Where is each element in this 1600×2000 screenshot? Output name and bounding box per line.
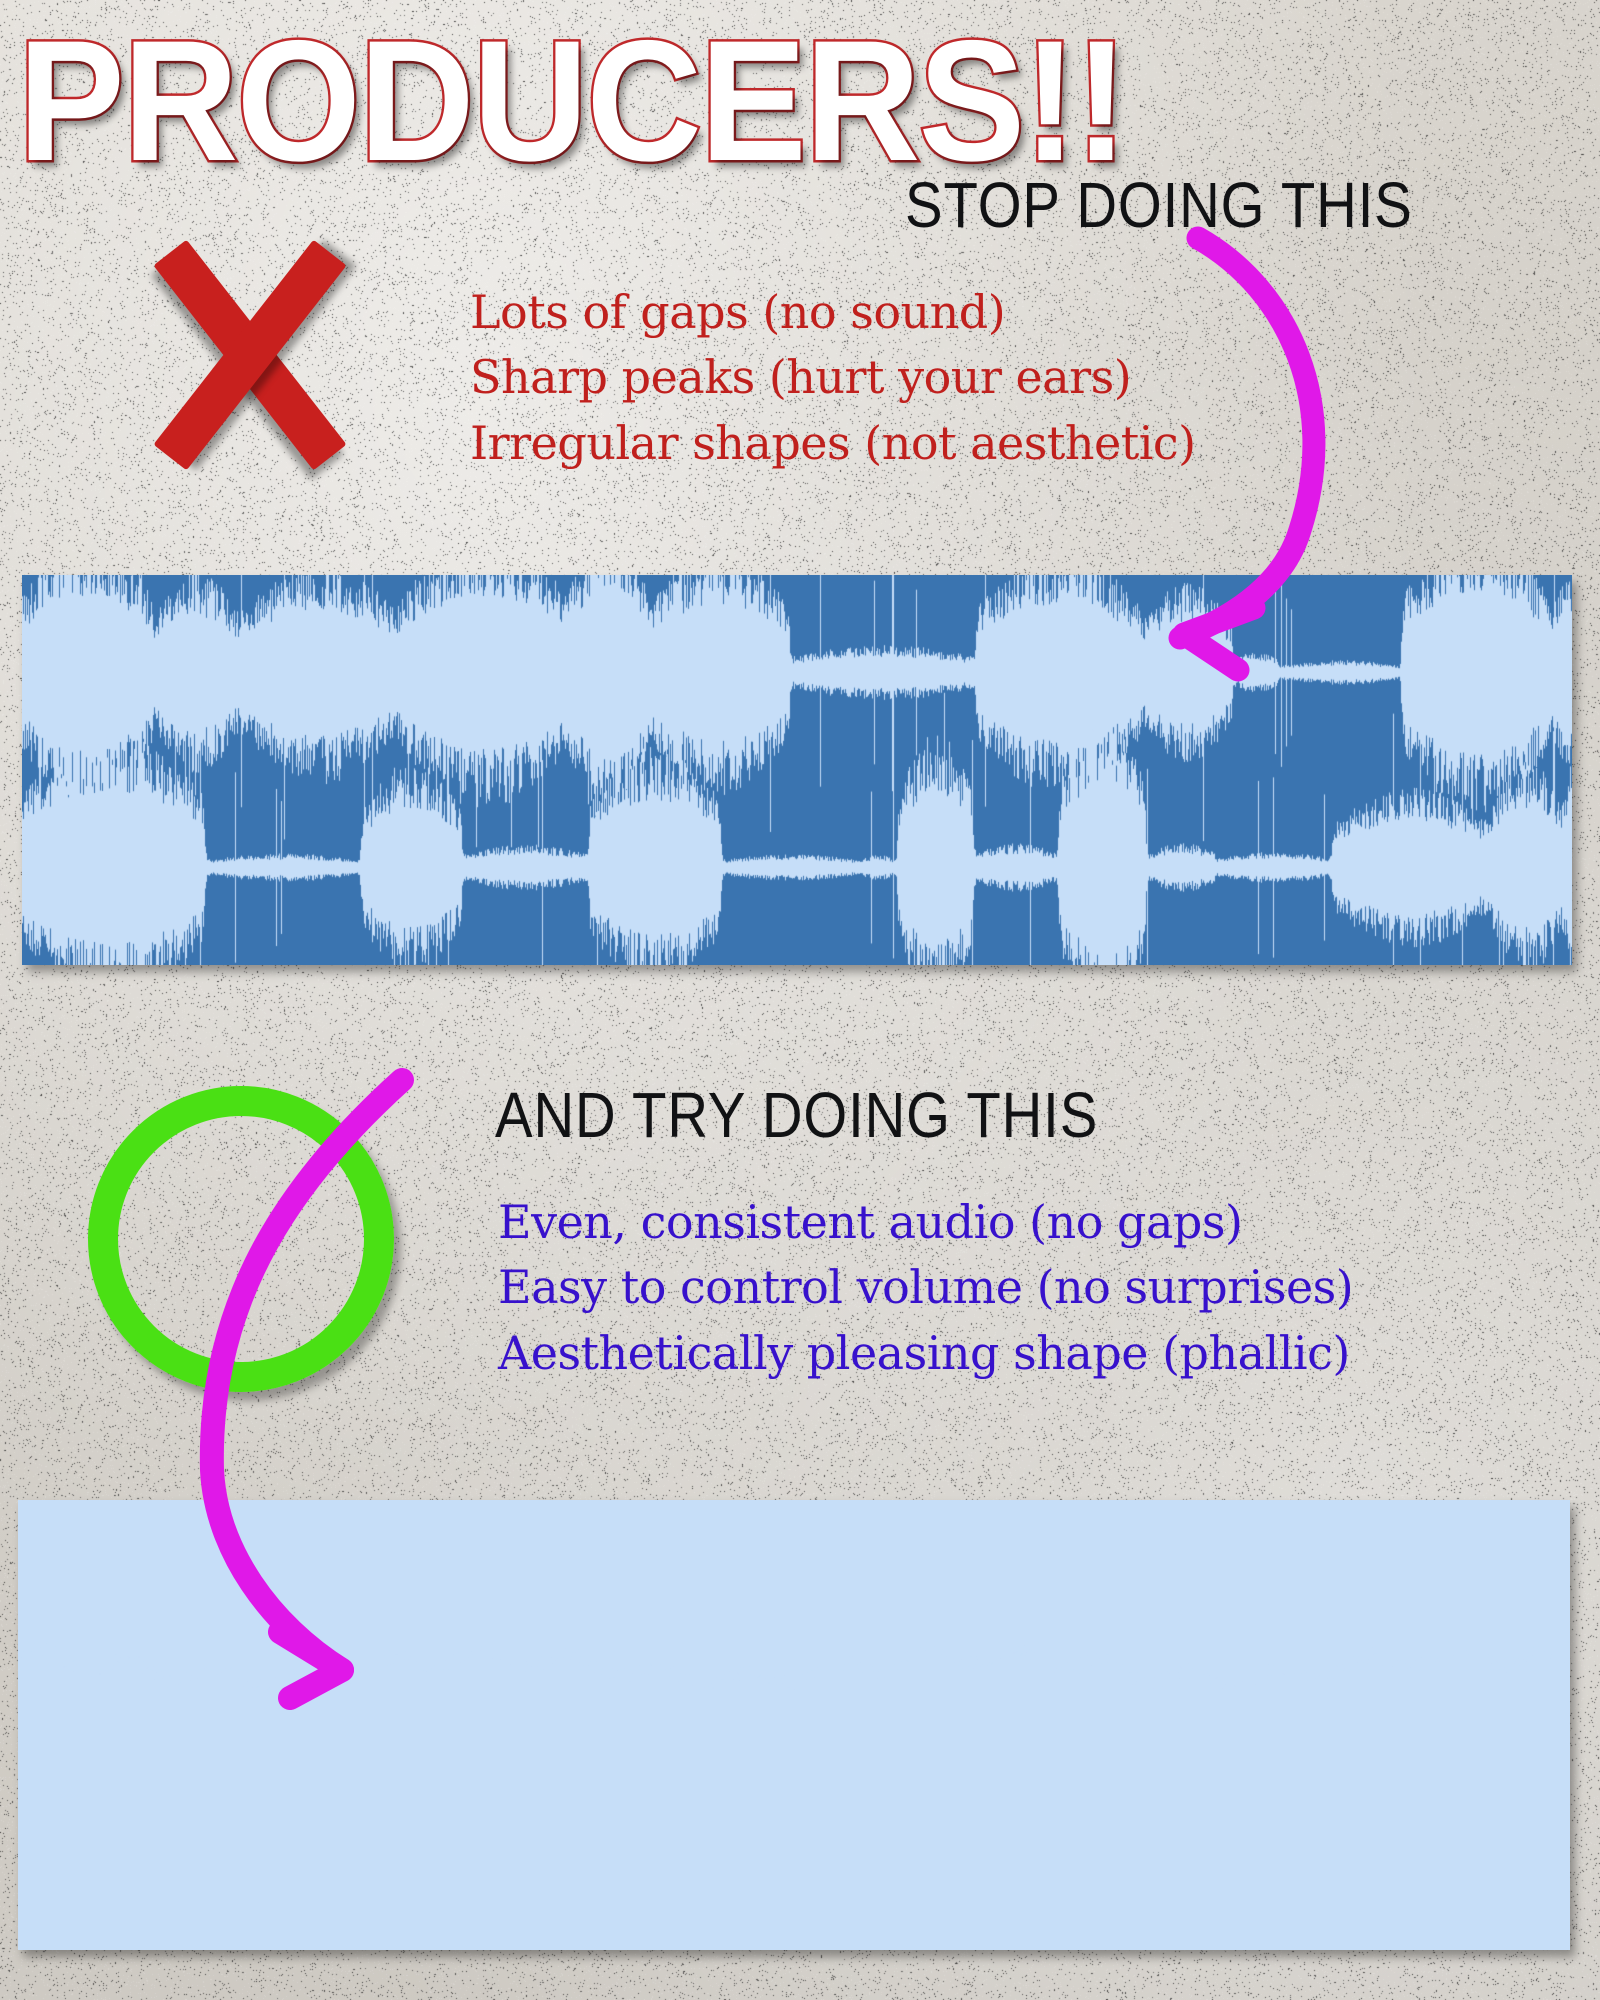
green-circle-icon [88, 1086, 394, 1392]
good-bullet-2: Aesthetically pleasing shape (phallic) [498, 1321, 1353, 1386]
page-title: PRODUCERS!! [18, 22, 1126, 180]
bad-bullet-2: Irregular shapes (not aesthetic) [470, 411, 1196, 476]
bad-waveform-panel [22, 575, 1572, 965]
bad-bullet-1: Sharp peaks (hurt your ears) [470, 345, 1196, 410]
try-doing-heading: AND TRY DOING THIS [495, 1078, 1098, 1152]
bad-bullet-list: Lots of gaps (no sound) Sharp peaks (hur… [470, 280, 1196, 476]
good-bullet-0: Even, consistent audio (no gaps) [498, 1190, 1353, 1255]
bad-bullet-0: Lots of gaps (no sound) [470, 280, 1196, 345]
good-waveform-panel [18, 1500, 1570, 1950]
good-waveform-canvas [18, 1500, 1570, 1950]
good-bullet-list: Even, consistent audio (no gaps) Easy to… [498, 1190, 1353, 1386]
good-bullet-1: Easy to control volume (no surprises) [498, 1255, 1353, 1320]
poster-stage: PRODUCERS!! STOP DOING THIS Lots of gaps… [0, 0, 1600, 2000]
bad-waveform-canvas [22, 575, 1572, 965]
red-x-icon [130, 230, 370, 480]
